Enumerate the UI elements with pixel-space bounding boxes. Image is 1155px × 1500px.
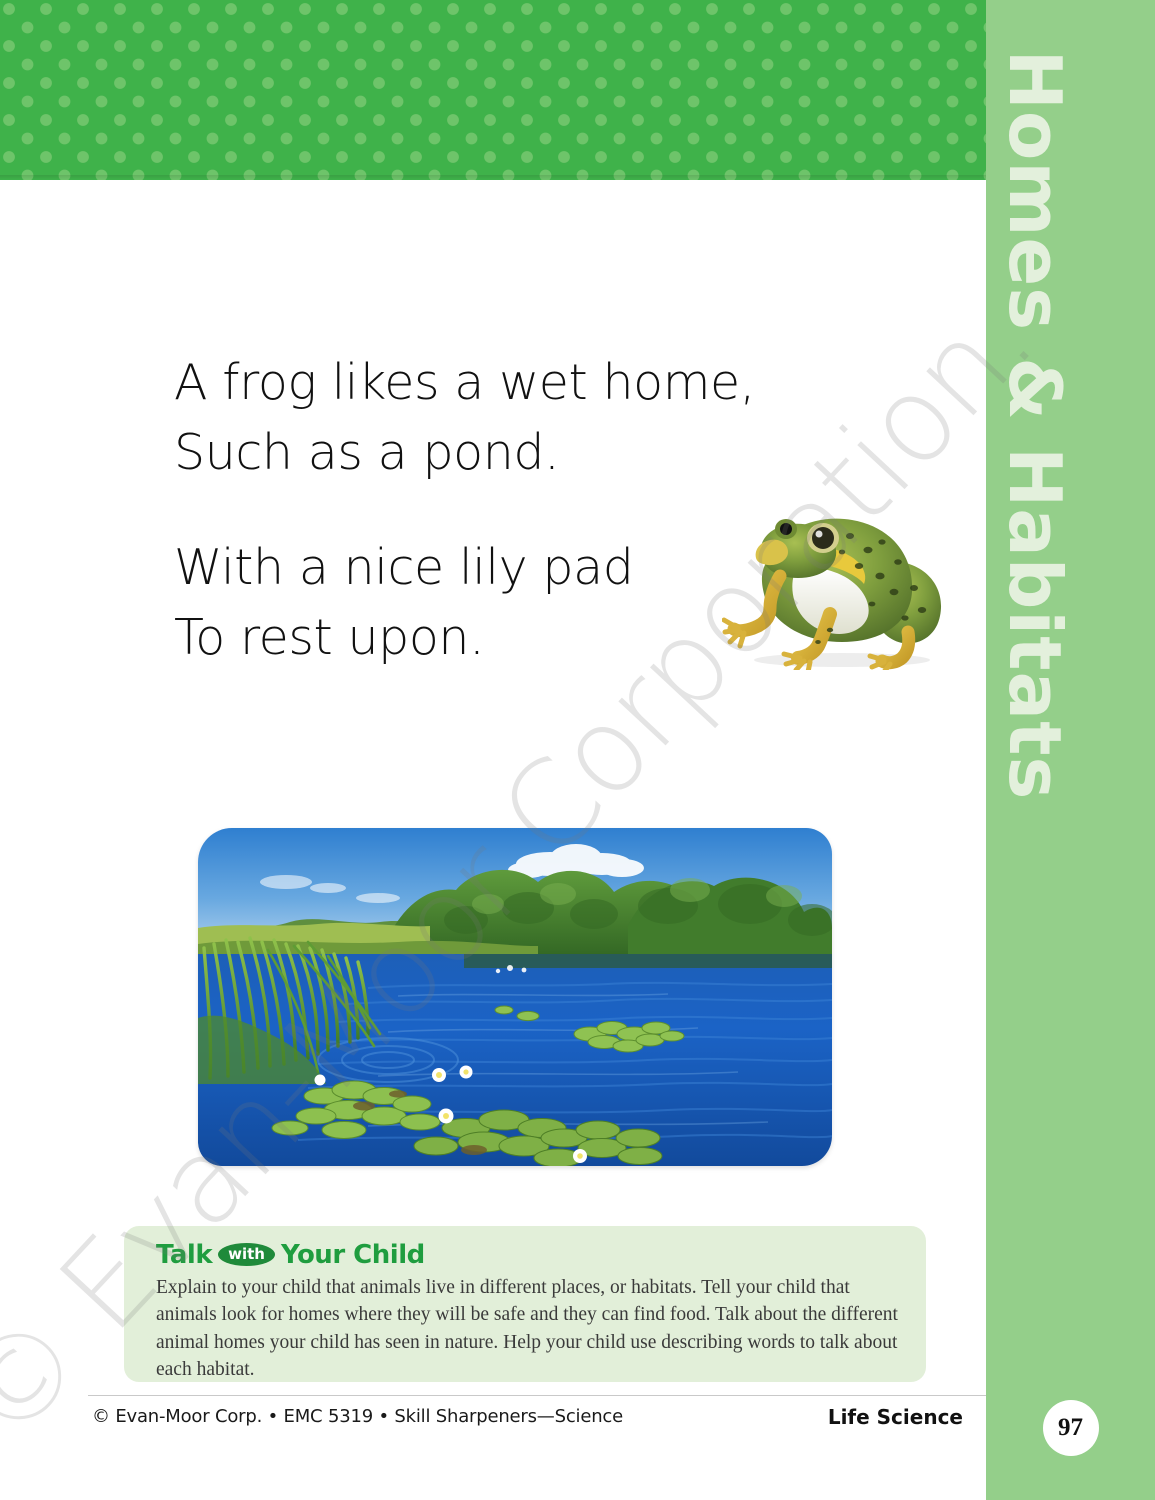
- unit-sidebar: Homes & Habitats 97: [986, 0, 1155, 1500]
- footer-copyright: © Evan-Moor Corp. • EMC 5319 • Skill Sha…: [92, 1406, 623, 1427]
- talk-box-body-text: Explain to your child that animals live …: [156, 1274, 900, 1383]
- frog-photo: [722, 492, 960, 670]
- frog-illustration: [722, 492, 960, 670]
- poem-stanza-1: A frog likes a wet home, Such as a pond.: [174, 348, 794, 487]
- talk-box-heading: Talk with Your Child: [156, 1240, 900, 1270]
- talk-heading-with-badge: with: [218, 1243, 275, 1266]
- talk-heading-word-your-child: Your Child: [281, 1240, 425, 1270]
- poem-line-1: A frog likes a wet home,: [174, 348, 794, 418]
- pond-photo: [198, 828, 832, 1166]
- footer-section-label: Life Science: [828, 1405, 963, 1429]
- poem-line-4: To rest upon.: [174, 603, 794, 673]
- footer-divider: [88, 1395, 986, 1396]
- sidebar-unit-title: Homes & Habitats: [999, 50, 1071, 801]
- pond-illustration: [198, 828, 832, 1166]
- polka-dot-header-band: [0, 0, 986, 180]
- poem-stanza-2: With a nice lily pad To rest upon.: [174, 533, 794, 672]
- poem-text: A frog likes a wet home, Such as a pond.…: [174, 348, 794, 672]
- worksheet-page: A frog likes a wet home, Such as a pond.…: [0, 0, 1155, 1500]
- poem-line-2: Such as a pond.: [174, 418, 794, 488]
- talk-heading-word-talk: Talk: [156, 1240, 212, 1270]
- page-number-badge: 97: [1043, 1400, 1099, 1456]
- poem-line-3: With a nice lily pad: [174, 533, 794, 603]
- talk-with-your-child-box: Talk with Your Child Explain to your chi…: [124, 1226, 926, 1382]
